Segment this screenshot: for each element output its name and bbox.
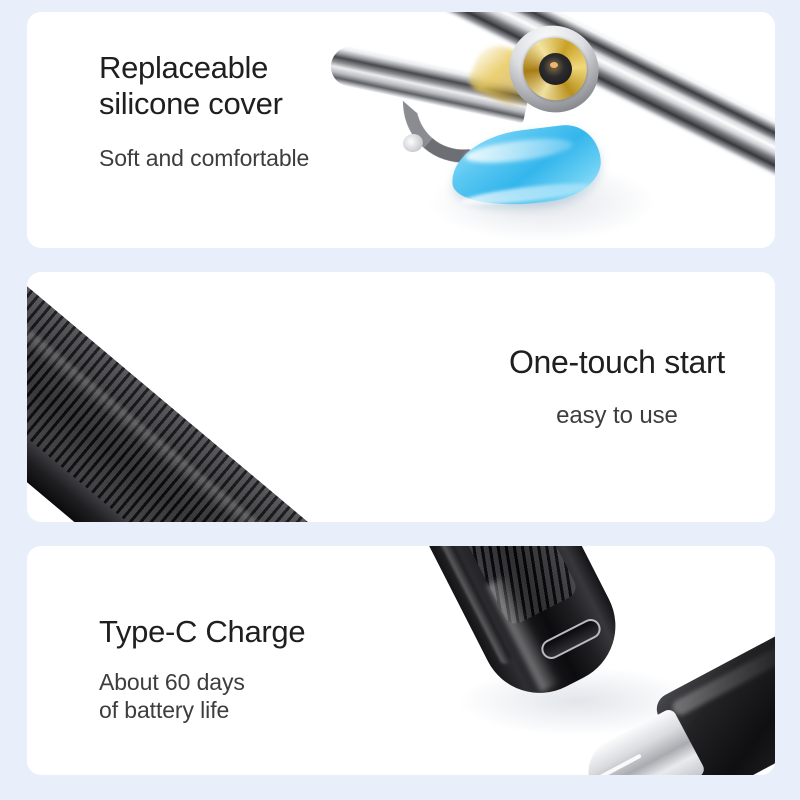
panel-3-text-block: Type-C Charge About 60 days of battery l… xyxy=(99,614,305,724)
panel-2-headline: One-touch start xyxy=(509,344,725,380)
product-feature-page: Replaceable silicone cover Soft and comf… xyxy=(0,0,800,800)
camera-lens-glint xyxy=(550,62,558,68)
panel-3-subline: About 60 days of battery life xyxy=(99,668,305,724)
panel-1-headline: Replaceable silicone cover xyxy=(99,50,309,122)
panel-2-subline: easy to use xyxy=(509,402,725,430)
panel-type-c-charge: Type-C Charge About 60 days of battery l… xyxy=(27,546,775,775)
camera-lens-icon xyxy=(539,53,572,85)
panel-one-touch-start: One-touch start easy to use xyxy=(27,272,775,522)
panel-1-text-block: Replaceable silicone cover Soft and comf… xyxy=(99,50,309,172)
panel-replaceable-silicone-cover: Replaceable silicone cover Soft and comf… xyxy=(27,12,775,248)
panel-2-text-block: One-touch start easy to use xyxy=(509,344,725,430)
panel-3-headline: Type-C Charge xyxy=(99,614,305,650)
panel-1-subline: Soft and comfortable xyxy=(99,144,309,172)
